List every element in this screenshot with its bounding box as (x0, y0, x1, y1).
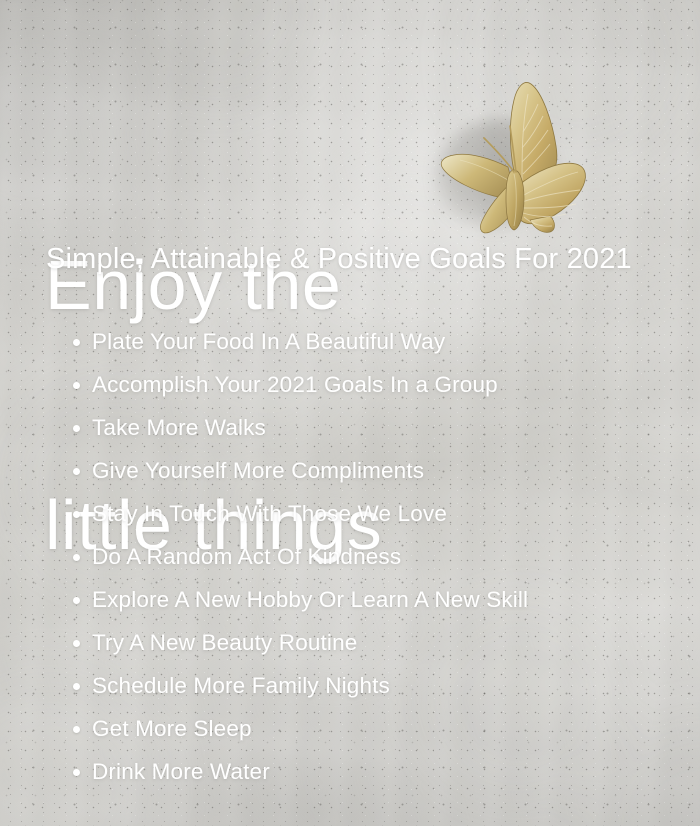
list-item: Try A New Beauty Routine (62, 621, 680, 664)
goal-label: Do A Random Act Of Kindness (92, 544, 401, 570)
goals-list: Plate Your Food In A Beautiful Way Accom… (62, 320, 680, 793)
bullet-icon (73, 511, 80, 518)
list-item: Schedule More Family Nights (62, 664, 680, 707)
list-item: Explore A New Hobby Or Learn A New Skill (62, 578, 680, 621)
bullet-icon (73, 640, 80, 647)
list-item: Get More Sleep (62, 707, 680, 750)
bullet-icon (73, 425, 80, 432)
goal-label: Accomplish Your 2021 Goals In a Group (92, 372, 498, 398)
goals-poster: Enjoy the little things Simple, Attainab… (0, 0, 700, 826)
bullet-icon (73, 597, 80, 604)
goal-label: Drink More Water (92, 759, 270, 785)
list-item: Accomplish Your 2021 Goals In a Group (62, 363, 680, 406)
butterfly-decoration (430, 62, 590, 252)
goal-label: Schedule More Family Nights (92, 673, 390, 699)
bullet-icon (73, 726, 80, 733)
bullet-icon (73, 683, 80, 690)
goal-label: Explore A New Hobby Or Learn A New Skill (92, 587, 528, 613)
goal-label: Try A New Beauty Routine (92, 630, 357, 656)
list-item: Drink More Water (62, 750, 680, 793)
goal-label: Stay In Touch With Those We Love (92, 501, 447, 527)
goal-label: Get More Sleep (92, 716, 252, 742)
bullet-icon (73, 382, 80, 389)
goal-label: Plate Your Food In A Beautiful Way (92, 329, 445, 355)
bullet-icon (73, 769, 80, 776)
list-item: Stay In Touch With Those We Love (62, 492, 680, 535)
bullet-icon (73, 339, 80, 346)
goal-label: Give Yourself More Compliments (92, 458, 424, 484)
goal-label: Take More Walks (92, 415, 266, 441)
bullet-icon (73, 554, 80, 561)
list-item: Plate Your Food In A Beautiful Way (62, 320, 680, 363)
bullet-icon (73, 468, 80, 475)
butterfly-icon (430, 62, 590, 252)
subtitle: Simple, Attainable & Positive Goals For … (46, 243, 632, 276)
list-item: Take More Walks (62, 406, 680, 449)
list-item: Do A Random Act Of Kindness (62, 535, 680, 578)
list-item: Give Yourself More Compliments (62, 449, 680, 492)
